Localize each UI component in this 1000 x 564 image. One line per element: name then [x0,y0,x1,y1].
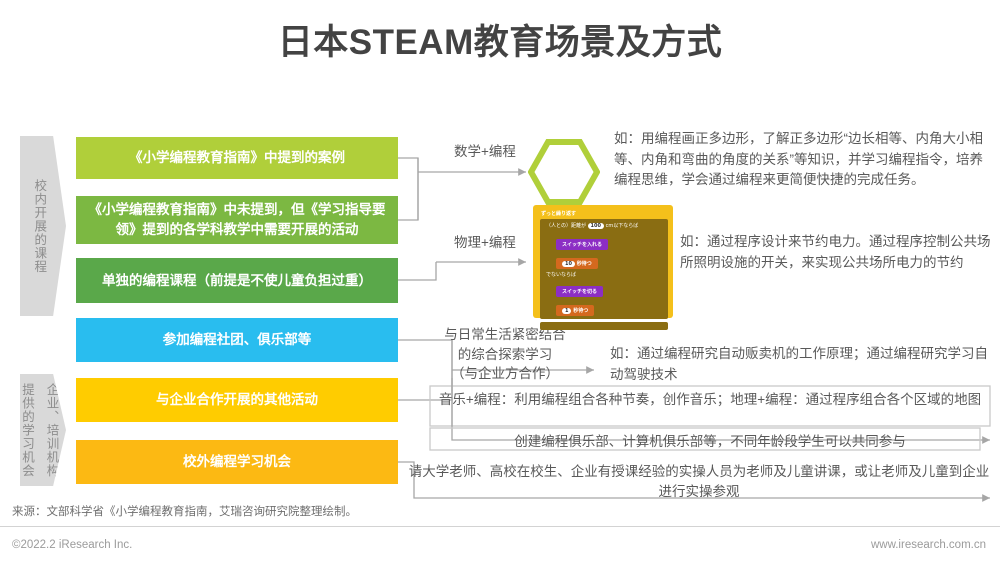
copyright-text: ©2022.2 iResearch Inc. [12,539,132,551]
row-programming-clubs: 创建编程俱乐部、计算机俱乐部等，不同年龄段学生可以共同参与 [430,432,990,452]
row-university-lecturers: 请大学老师、高校在校生、企业有授课经验的实操人员为老师及儿童讲课，或让老师及儿童… [408,462,990,503]
scratch-wait-2: 1 秒待つ [556,305,594,316]
scratch-loop-label: ずっと繰り返す [537,208,673,219]
middle-label-math-programming: 数学+编程 [430,142,540,162]
middle-label-integrated-learning: 与日常生活紧密结合的综合探索学习（与企业方合作） [420,325,590,384]
scratch-condition-value: 100 [588,223,604,229]
description-physics-programming: 如：通过程序设计来节约电力。通过程序控制公共场所照明设施的开关，来实现公共场所电… [680,232,992,273]
scratch-condition-prefix: （人との）距離が [546,223,586,229]
scratch-wait-1-label: 秒待つ [577,261,592,267]
scratch-bottom-bar [540,322,668,330]
scratch-action-switch-on: スイッチを入れる [556,239,608,250]
source-note: 来源：文部科学省《小学编程教育指南，艾瑞咨询研究院整理绘制。 [12,503,812,519]
scratch-wait-1: 10 秒待つ [556,258,598,269]
scratch-code-illustration: ずっと繰り返す （人との）距離が 100 cm以下ならば スイッチを入れる 10… [533,205,673,318]
footer-divider [0,526,1000,527]
scratch-condition-suffix: cm以下ならば [606,223,639,229]
middle-label-physics-programming: 物理+编程 [430,233,540,253]
scratch-else-label: でないならば [540,269,668,278]
scratch-inner-block: （人との）距離が 100 cm以下ならば スイッチを入れる 10 秒待つ でない… [540,219,668,319]
site-url[interactable]: www.iresearch.com.cn [871,539,986,551]
description-integrated-learning: 如：通过编程研究自动贩卖机的工作原理；通过编程研究学习自动驾驶技术 [610,344,990,385]
hexagon-icon [528,139,600,205]
scratch-condition: （人との）距離が 100 cm以下ならば [540,221,668,231]
scratch-wait-2-label: 秒待つ [573,308,588,314]
description-math-programming: 如：用编程画正多边形，了解正多边形“边长相等、内角大小相等、内角和弯曲的角度的关… [614,129,990,191]
slide-canvas: 日本STEAM教育场景及方式 校内开展的课程 企业、培训机构 提供的学习机会 《… [0,0,1000,564]
scratch-wait-1-value: 10 [562,261,575,267]
row-music-geography-programming: 音乐+编程：利用编程组合各种节奏，创作音乐；地理+编程：通过程序组合各个区域的地… [430,390,990,410]
scratch-wait-2-value: 1 [562,308,571,314]
scratch-action-switch-off: スイッチを切る [556,286,603,297]
